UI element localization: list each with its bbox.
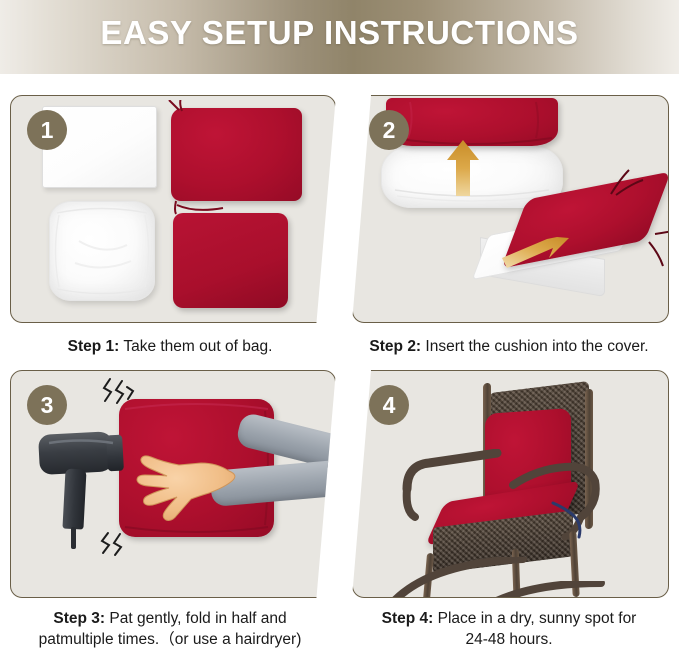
step-caption-3-label: Step 3: bbox=[53, 610, 105, 627]
red-cover-large-ties bbox=[161, 100, 321, 215]
step-caption-1-text: Take them out of bag. bbox=[119, 338, 272, 355]
motion-lines-bottom bbox=[97, 531, 133, 559]
step-caption-4-text: Place in a dry, sunny spot for bbox=[433, 610, 636, 627]
step-caption-3-text: Pat gently, fold in half and bbox=[105, 610, 287, 627]
step-caption-4-line2: 24-48 hours. bbox=[465, 631, 552, 648]
hairdryer-highlight bbox=[39, 433, 129, 479]
page-title: EASY SETUP INSTRUCTIONS bbox=[0, 14, 679, 52]
step-badge-4: 4 bbox=[369, 385, 409, 425]
step-panel-1: 1 bbox=[10, 95, 336, 323]
red-cover-small bbox=[173, 213, 288, 308]
step-caption-3: Step 3: Pat gently, fold in half and pat… bbox=[0, 608, 340, 650]
step-caption-4: Step 4: Place in a dry, sunny spot for 2… bbox=[339, 608, 679, 650]
step-panel-2: 2 bbox=[352, 95, 669, 323]
step-caption-1: Step 1: Take them out of bag. bbox=[0, 336, 340, 357]
step-badge-3: 3 bbox=[27, 385, 67, 425]
chair-rocker-far bbox=[457, 581, 607, 598]
step-caption-2-text: Insert the cushion into the cover. bbox=[421, 338, 648, 355]
step-caption-2: Step 2: Insert the cushion into the cove… bbox=[339, 336, 679, 357]
patting-hand bbox=[133, 449, 243, 525]
step-caption-4-label: Step 4: bbox=[382, 610, 434, 627]
pillow-seam-lines bbox=[49, 201, 155, 301]
motion-lines-top bbox=[99, 377, 135, 407]
insert-direction-arrow-up bbox=[446, 140, 480, 196]
hairdryer-cord-tip bbox=[71, 527, 76, 549]
step-panel-4: 4 bbox=[352, 370, 669, 598]
step-caption-2-label: Step 2: bbox=[369, 338, 421, 355]
step-badge-1: 1 bbox=[27, 110, 67, 150]
step-panel-3: 3 bbox=[10, 370, 336, 598]
step-caption-1-label: Step 1: bbox=[68, 338, 120, 355]
insert-direction-arrow-diagonal bbox=[501, 236, 571, 278]
step-badge-2: 2 bbox=[369, 110, 409, 150]
step-caption-3-line2: patmultiple times.（or use a hairdryer) bbox=[39, 631, 302, 648]
